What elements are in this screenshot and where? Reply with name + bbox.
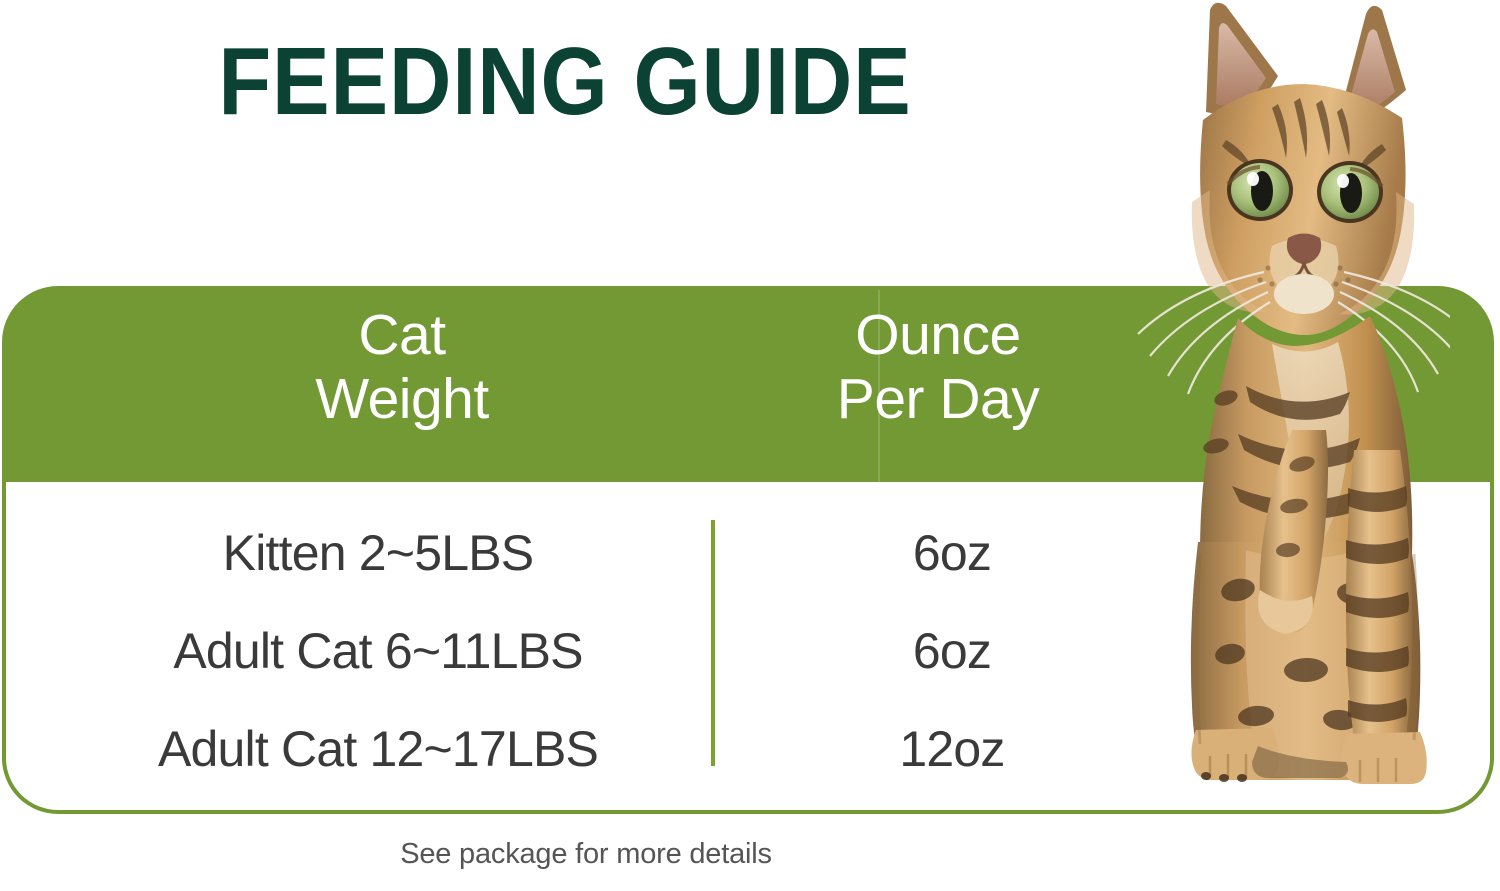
cell-cat-weight: Kitten 2~5LBS (46, 504, 710, 602)
column-header-ounce-per-day: Ounce Per Day (638, 304, 1238, 432)
table-row: Adult Cat 12~17LBS 12oz (6, 700, 1490, 798)
page-title: FEEDING GUIDE (57, 34, 1074, 130)
header-column-divider (878, 290, 880, 485)
table-row: Kitten 2~5LBS 6oz (6, 504, 1490, 602)
column-header-ounce-per-day-line2: Per Day (837, 367, 1039, 431)
feeding-guide-infographic: FEEDING GUIDE Cat Weight Ounce Per Day K… (0, 0, 1500, 891)
body-column-divider (711, 520, 715, 766)
table-header-row: Cat Weight Ounce Per Day (2, 286, 1494, 485)
cell-cat-weight: Adult Cat 6~11LBS (46, 602, 710, 700)
table-row: Adult Cat 6~11LBS 6oz (6, 602, 1490, 700)
table-rows: Kitten 2~5LBS 6oz Adult Cat 6~11LBS 6oz … (6, 482, 1490, 810)
column-header-cat-weight: Cat Weight (102, 304, 702, 432)
cell-ounce-per-day: 6oz (722, 602, 1182, 700)
column-header-cat-weight-line1: Cat (358, 303, 445, 367)
column-header-cat-weight-line2: Weight (315, 367, 488, 431)
column-header-ounce-per-day-line1: Ounce (855, 303, 1020, 367)
cell-ounce-per-day: 12oz (722, 700, 1182, 798)
cell-cat-weight: Adult Cat 12~17LBS (46, 700, 710, 798)
cell-ounce-per-day: 6oz (722, 504, 1182, 602)
feeding-table-card: Cat Weight Ounce Per Day Kitten 2~5LBS 6… (2, 286, 1494, 814)
footer-note: See package for more details (0, 838, 1172, 871)
table-body: Kitten 2~5LBS 6oz Adult Cat 6~11LBS 6oz … (2, 482, 1494, 814)
